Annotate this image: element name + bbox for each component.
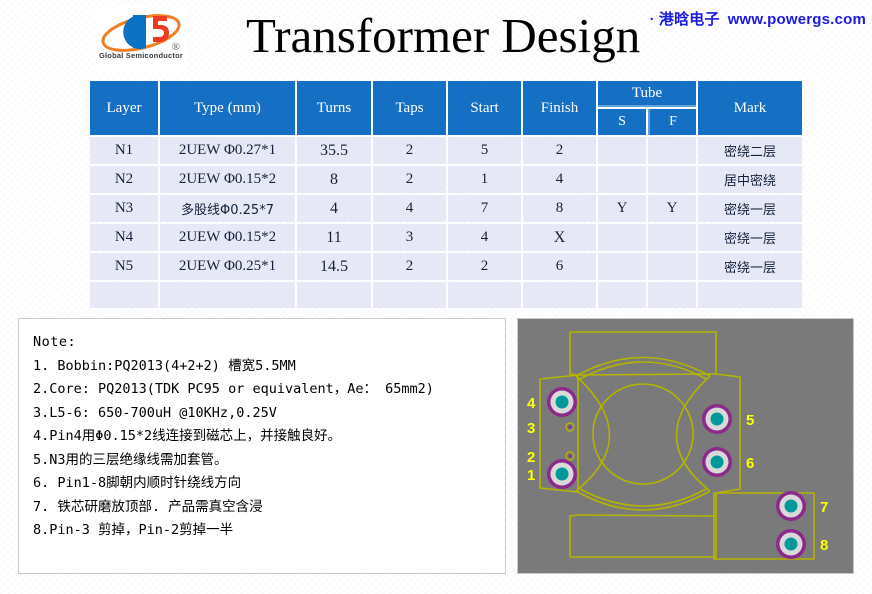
note-item: 1. Bobbin:PQ2013(4+2+2) 槽宽5.5MM (33, 355, 505, 379)
column-header-mark: Mark (698, 81, 802, 135)
pin-label-1: 1 (527, 467, 535, 484)
cell-turns: 14.5 (297, 253, 371, 280)
cell-finish: 2 (523, 137, 596, 164)
cell-tube-f: Y (648, 195, 696, 222)
cell-mark: 居中密绕 (698, 166, 802, 193)
table-header-row-1: Layer Type (mm) Turns Taps Start Finish … (90, 81, 802, 107)
page-title: Transformer Design (246, 6, 666, 66)
note-item: 6. Pin1-8脚朝内顺时针绕线方向 (33, 472, 505, 496)
cell-mark: 密绕二层 (698, 137, 802, 164)
pin-label-6: 6 (746, 455, 754, 472)
winding-table: Layer Type (mm) Turns Taps Start Finish … (88, 79, 804, 310)
cell-start: 1 (448, 166, 521, 193)
cell-finish: 4 (523, 166, 596, 193)
cell-taps (373, 282, 446, 308)
column-header-finish: Finish (523, 81, 596, 135)
cell-tube-s (598, 224, 646, 251)
column-header-turns: Turns (297, 81, 371, 135)
table-row: N2 2UEW Φ0.15*2 8 2 1 4 居中密绕 (90, 166, 802, 193)
table-row: N4 2UEW Φ0.15*2 11 3 4 X 密绕一层 (90, 224, 802, 251)
cell-tube-f (648, 137, 696, 164)
cell-turns (297, 282, 371, 308)
cell-tube-s (598, 253, 646, 280)
note-item: 4.Pin4用Φ0.15*2线连接到磁芯上，并接触良好。 (33, 425, 505, 449)
cell-tube-f (648, 253, 696, 280)
column-header-start: Start (448, 81, 521, 135)
column-header-tube-f: F (648, 109, 696, 135)
note-item: 7. 铁芯研磨放顶部. 产品需真空含浸 (33, 496, 505, 520)
pin-pad-6 (702, 447, 732, 477)
company-logo: ® Global Semiconductor (96, 6, 186, 72)
column-header-tube-s: S (598, 109, 646, 135)
pin-label-7: 7 (820, 499, 828, 516)
bobbin-pinout-diagram: 4 3 2 1 5 6 7 8 (517, 318, 854, 574)
pin-pad-8 (776, 529, 806, 559)
pin-pad-5 (702, 404, 732, 434)
cell-layer: N2 (90, 166, 158, 193)
note-item: 5.N3用的三层绝缘线需加套管。 (33, 449, 505, 473)
cell-tube-f (648, 166, 696, 193)
cell-mark: 密绕一层 (698, 195, 802, 222)
cell-turns: 11 (297, 224, 371, 251)
column-header-type: Type (mm) (160, 81, 295, 135)
pin-label-2: 2 (527, 449, 535, 466)
column-header-taps: Taps (373, 81, 446, 135)
cell-layer: N1 (90, 137, 158, 164)
cell-turns: 8 (297, 166, 371, 193)
column-header-tube: Tube (598, 81, 696, 107)
cell-finish: X (523, 224, 596, 251)
registered-trademark-icon: ® (172, 41, 180, 53)
pin-label-8: 8 (820, 537, 828, 554)
brand-website-line: ·港晗电子www.powergs.com (650, 8, 866, 29)
cell-taps: 2 (373, 253, 446, 280)
cell-layer: N3 (90, 195, 158, 222)
table-row: N1 2UEW Φ0.27*1 35.5 2 5 2 密绕二层 (90, 137, 802, 164)
cell-tube-s (598, 166, 646, 193)
cell-type: 多股线Φ0.25*7 (160, 195, 295, 222)
notes-panel: Note: 1. Bobbin:PQ2013(4+2+2) 槽宽5.5MM 2.… (18, 318, 506, 574)
cell-tube-s (598, 137, 646, 164)
table-row: N3 多股线Φ0.25*7 4 4 7 8 Y Y 密绕一层 (90, 195, 802, 222)
note-item: 3.L5-6: 650-700uH @10KHz,0.25V (33, 402, 505, 426)
page-header: ® Global Semiconductor Transformer Desig… (0, 0, 872, 76)
cell-type: 2UEW Φ0.27*1 (160, 137, 295, 164)
notes-heading: Note: (33, 331, 505, 355)
cell-finish: 8 (523, 195, 596, 222)
cell-taps: 4 (373, 195, 446, 222)
note-item: 2.Core: PQ2013(TDK PC95 or equivalent，Ae… (33, 378, 505, 402)
pin-pad-7 (776, 491, 806, 521)
cell-start: 2 (448, 253, 521, 280)
cell-finish: 6 (523, 253, 596, 280)
cell-layer (90, 282, 158, 308)
cell-type: 2UEW Φ0.15*2 (160, 166, 295, 193)
brand-url: www.powergs.com (728, 11, 866, 28)
note-item: 8.Pin-3 剪掉，Pin-2剪掉一半 (33, 519, 505, 543)
pin-pad-4 (547, 387, 577, 417)
cell-mark: 密绕一层 (698, 253, 802, 280)
brand-name-cn: 港晗电子 (659, 11, 720, 28)
column-header-layer: Layer (90, 81, 158, 135)
cell-tube-f (648, 224, 696, 251)
cell-layer: N4 (90, 224, 158, 251)
cell-start: 4 (448, 224, 521, 251)
cell-tube-f (648, 282, 696, 308)
pin-label-3: 3 (527, 420, 535, 437)
cell-taps: 2 (373, 166, 446, 193)
cell-mark (698, 282, 802, 308)
cell-turns: 35.5 (297, 137, 371, 164)
cell-turns: 4 (297, 195, 371, 222)
table-row: N5 2UEW Φ0.25*1 14.5 2 2 6 密绕一层 (90, 253, 802, 280)
cell-type: 2UEW Φ0.15*2 (160, 224, 295, 251)
logo-mark-icon: ® (99, 8, 183, 54)
cell-layer: N5 (90, 253, 158, 280)
cell-mark: 密绕一层 (698, 224, 802, 251)
pin-label-5: 5 (746, 412, 754, 429)
cell-taps: 2 (373, 137, 446, 164)
cell-type: 2UEW Φ0.25*1 (160, 253, 295, 280)
winding-table-container: Layer Type (mm) Turns Taps Start Finish … (88, 79, 786, 310)
cell-start (448, 282, 521, 308)
table-row-blank (90, 282, 802, 308)
cell-finish (523, 282, 596, 308)
pin-pad-1 (547, 459, 577, 489)
pin-label-4: 4 (527, 395, 536, 412)
cell-tube-s (598, 282, 646, 308)
cell-type (160, 282, 295, 308)
brand-bullet-icon: · (650, 11, 655, 28)
cell-taps: 3 (373, 224, 446, 251)
cell-tube-s: Y (598, 195, 646, 222)
cell-start: 7 (448, 195, 521, 222)
cell-start: 5 (448, 137, 521, 164)
